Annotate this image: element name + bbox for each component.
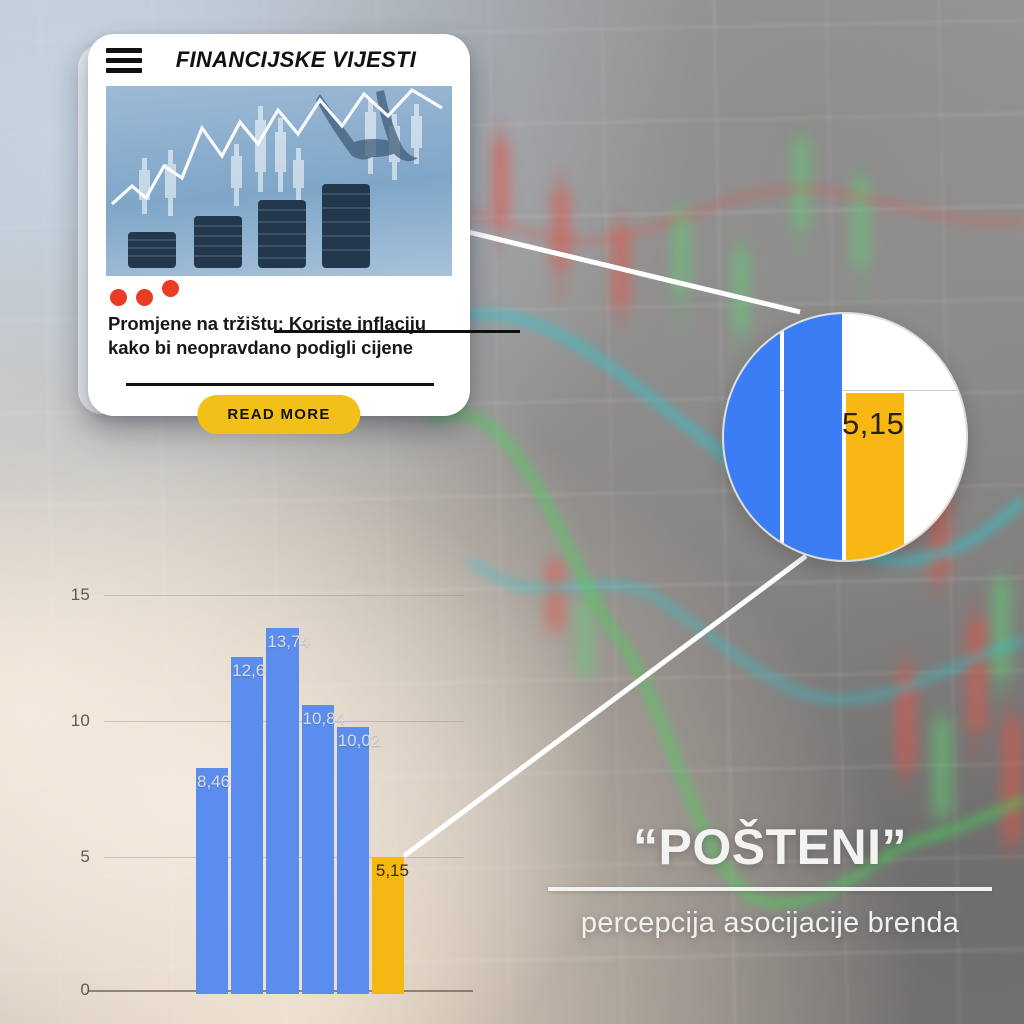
y-tick-5: 5 — [44, 847, 90, 867]
bar-label-1: 8,46 — [197, 772, 230, 792]
news-card-header: FINANCIJSKE VIJESTI — [88, 34, 470, 86]
hamburger-bar-1 — [106, 48, 142, 53]
magnifier-bar-blue-3 — [784, 314, 842, 560]
magnifier-circle: 5,15 — [724, 314, 966, 560]
brand-block: “POŠTENI” percepcija asocijacije brenda — [540, 822, 1000, 940]
news-card-title: FINANCIJSKE VIJESTI — [142, 47, 454, 73]
bar-label-3: 13,74 — [267, 632, 310, 652]
news-card-divider-top — [274, 330, 520, 333]
news-card[interactable]: FINANCIJSKE VIJESTI — [88, 34, 470, 416]
bar-fill-5 — [337, 727, 369, 994]
hamburger-bar-3 — [106, 68, 142, 73]
bar-fill-4 — [302, 705, 334, 994]
magnifier-bar-blue-2 — [724, 314, 780, 560]
read-more-button[interactable]: READ MORE — [197, 395, 360, 434]
news-card-photo — [106, 86, 452, 276]
hamburger-icon[interactable] — [106, 48, 142, 73]
news-card-dots — [88, 276, 470, 306]
news-card-headline: Promjene na tržištu: Koriste inflaciju k… — [88, 306, 470, 360]
bar-label-6: 5,15 — [376, 861, 409, 881]
brand-subtitle: percepcija asocijacije brenda — [540, 907, 1000, 940]
magnifier-value-label: 5,15 — [842, 406, 904, 442]
y-tick-10: 10 — [44, 711, 90, 731]
bar-fill-2 — [231, 657, 263, 994]
brand-title: “POŠTENI” — [540, 822, 1000, 873]
bar-chart: 15 10 5 0 8,46 12,65 13,74 10,84 10,02 5… — [0, 560, 500, 1024]
bar-label-5: 10,02 — [338, 731, 381, 751]
brand-divider — [548, 887, 992, 891]
dot-icon-1 — [110, 289, 127, 306]
y-tick-15: 15 — [44, 585, 90, 605]
chart-bars: 8,46 12,65 13,74 10,84 10,02 5,15 — [196, 594, 404, 994]
bar-fill-1 — [196, 768, 228, 994]
coin-stacks-illustration — [106, 86, 452, 276]
dot-icon-3 — [162, 280, 179, 297]
y-tick-0: 0 — [44, 980, 90, 1000]
bar-fill-3 — [266, 628, 298, 994]
news-card-divider-bottom — [126, 383, 434, 386]
hamburger-bar-2 — [106, 58, 142, 63]
dot-icon-2 — [136, 289, 153, 306]
